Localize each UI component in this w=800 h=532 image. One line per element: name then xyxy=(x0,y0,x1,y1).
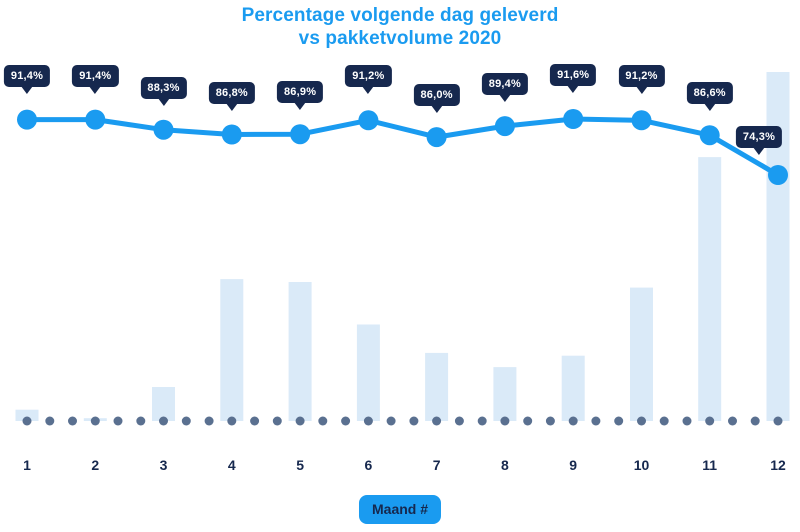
data-label-tooltip: 91,2% xyxy=(345,65,391,87)
axis-dot xyxy=(637,417,646,426)
data-label-tooltip: 89,4% xyxy=(482,73,528,95)
axis-dot xyxy=(432,417,441,426)
axis-dot xyxy=(591,417,600,426)
data-label-tooltip: 86,8% xyxy=(209,82,255,104)
x-tick-label: 2 xyxy=(91,457,99,473)
axis-dot xyxy=(387,417,396,426)
axis-dot xyxy=(751,417,760,426)
data-point-marker[interactable] xyxy=(154,120,174,140)
axis-dot xyxy=(478,417,487,426)
data-label-tooltip: 91,4% xyxy=(72,65,118,87)
data-point-marker[interactable] xyxy=(222,125,242,145)
data-label-tooltip: 86,6% xyxy=(687,82,733,104)
x-axis-dots xyxy=(23,417,783,426)
axis-dot xyxy=(114,417,123,426)
data-point-marker[interactable] xyxy=(768,165,788,185)
data-point-marker[interactable] xyxy=(632,110,652,130)
x-tick-label: 3 xyxy=(160,457,168,473)
axis-dot xyxy=(273,417,282,426)
axis-dot xyxy=(660,417,669,426)
x-tick-label: 4 xyxy=(228,457,236,473)
x-tick-label: 1 xyxy=(23,457,31,473)
data-point-marker[interactable] xyxy=(17,110,37,130)
bar xyxy=(357,325,380,422)
axis-dot xyxy=(569,417,578,426)
axis-dot xyxy=(523,417,532,426)
axis-dot xyxy=(250,417,259,426)
bar xyxy=(767,72,790,421)
data-point-marker[interactable] xyxy=(358,110,378,130)
bar xyxy=(152,387,175,421)
x-tick-label: 9 xyxy=(569,457,577,473)
data-label-tooltip: 91,2% xyxy=(618,65,664,87)
bar xyxy=(220,279,243,421)
data-label-tooltip: 74,3% xyxy=(736,126,782,148)
x-axis-title-badge: Maand # xyxy=(359,495,441,524)
axis-dot xyxy=(23,417,32,426)
bar xyxy=(425,353,448,421)
data-label-tooltip: 91,6% xyxy=(550,64,596,86)
data-point-marker[interactable] xyxy=(290,124,310,144)
axis-dot xyxy=(318,417,327,426)
bar xyxy=(562,356,585,421)
x-tick-label: 12 xyxy=(770,457,786,473)
data-label-tooltip: 91,4% xyxy=(4,65,50,87)
axis-dot xyxy=(614,417,623,426)
axis-dot xyxy=(455,417,464,426)
axis-dot xyxy=(364,417,373,426)
axis-dot xyxy=(296,417,305,426)
axis-dot xyxy=(136,417,145,426)
data-point-marker[interactable] xyxy=(563,109,583,129)
bar xyxy=(630,288,653,421)
x-tick-label: 10 xyxy=(634,457,650,473)
x-tick-label: 6 xyxy=(364,457,372,473)
bar xyxy=(493,367,516,421)
data-point-marker[interactable] xyxy=(85,110,105,130)
axis-dot xyxy=(159,417,168,426)
axis-dot xyxy=(683,417,692,426)
x-tick-label: 8 xyxy=(501,457,509,473)
axis-dot xyxy=(205,417,214,426)
x-tick-label: 7 xyxy=(433,457,441,473)
axis-dot xyxy=(91,417,100,426)
axis-dot xyxy=(341,417,350,426)
data-point-marker[interactable] xyxy=(427,127,447,147)
data-point-marker[interactable] xyxy=(700,125,720,145)
axis-dot xyxy=(409,417,418,426)
bar xyxy=(289,282,312,421)
axis-dot xyxy=(546,417,555,426)
data-label-tooltip: 86,9% xyxy=(277,81,323,103)
axis-dot xyxy=(705,417,714,426)
plot-area: 91,4%91,4%88,3%86,8%86,9%91,2%86,0%89,4%… xyxy=(0,0,800,532)
line-series-path xyxy=(27,119,778,175)
data-point-marker[interactable] xyxy=(495,116,515,136)
axis-dot xyxy=(774,417,783,426)
axis-dot xyxy=(728,417,737,426)
chart-svg xyxy=(0,0,800,532)
axis-dot xyxy=(500,417,509,426)
x-tick-label: 5 xyxy=(296,457,304,473)
line-series-markers xyxy=(17,109,788,185)
bar xyxy=(698,157,721,421)
axis-dot xyxy=(68,417,77,426)
axis-dot xyxy=(45,417,54,426)
chart-container: Percentage volgende dag geleverd vs pakk… xyxy=(0,0,800,532)
axis-dot xyxy=(182,417,191,426)
data-label-tooltip: 88,3% xyxy=(140,77,186,99)
data-label-tooltip: 86,0% xyxy=(413,84,459,106)
x-tick-label: 11 xyxy=(702,457,717,473)
axis-dot xyxy=(227,417,236,426)
